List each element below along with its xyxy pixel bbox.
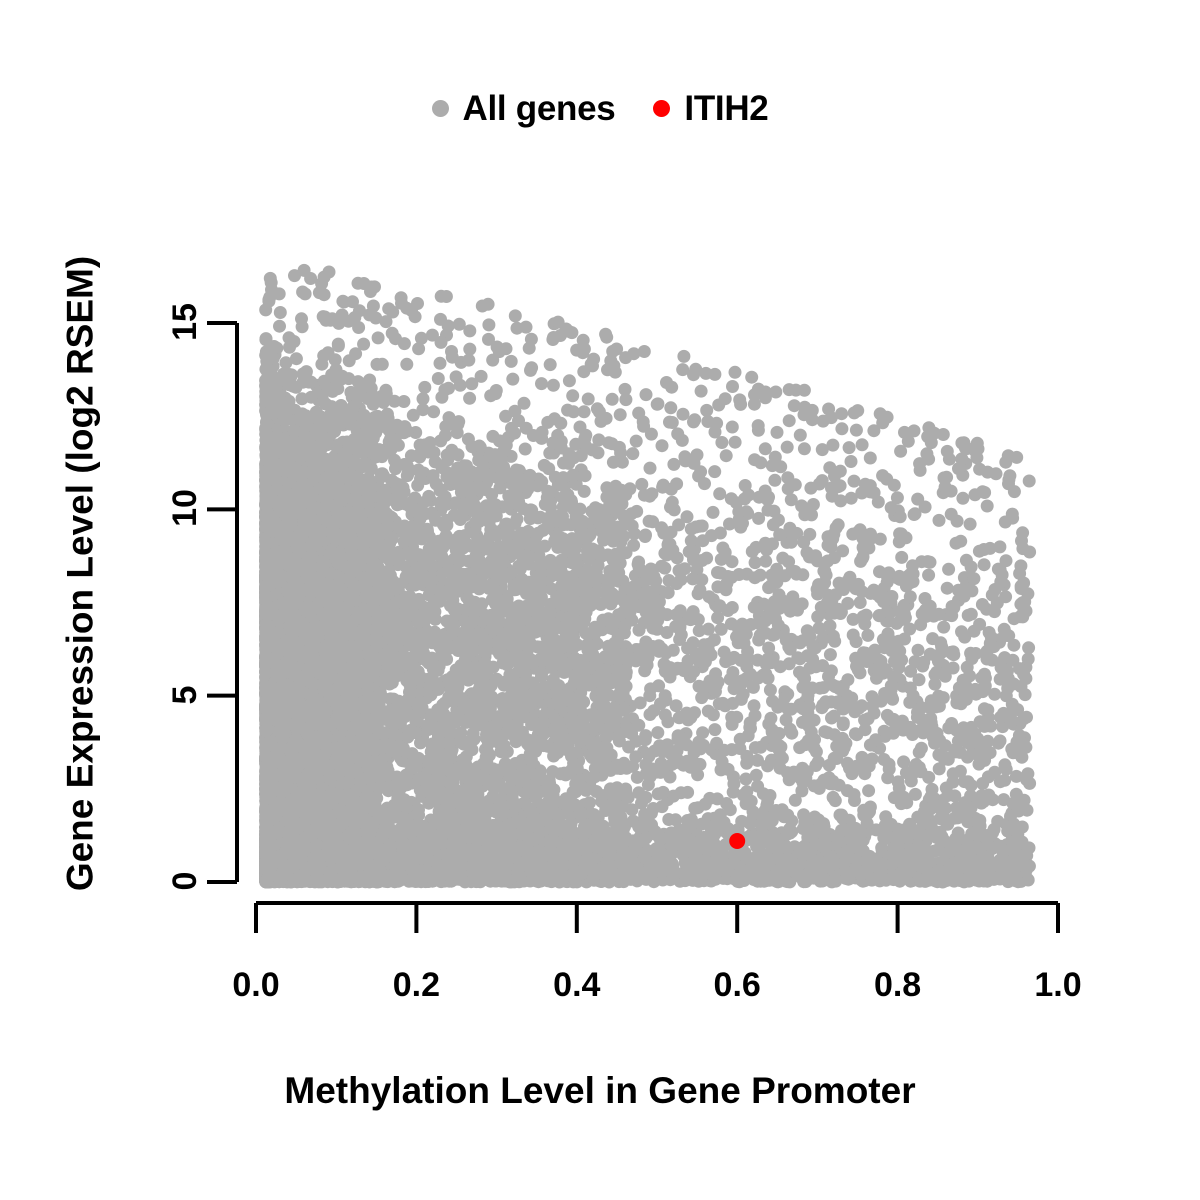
scatter-points-all-genes <box>259 264 1036 889</box>
y-tick-0: 0 <box>168 851 202 911</box>
itih2-point <box>729 833 745 849</box>
x-tick-0.0: 0.0 <box>201 968 311 1002</box>
y-tick-5: 5 <box>168 665 202 725</box>
plot-canvas <box>0 0 1200 1200</box>
scatter-plot-figure: All genes ITIH2 051015 0.00.20.40.60.81.… <box>0 0 1200 1200</box>
y-axis-title: Gene Expression Level (log2 RSEM) <box>62 144 99 1004</box>
y-tick-15: 15 <box>168 292 202 352</box>
x-tick-0.2: 0.2 <box>361 968 471 1002</box>
x-tick-1.0: 1.0 <box>1003 968 1113 1002</box>
x-tick-0.8: 0.8 <box>843 968 953 1002</box>
x-axis-title: Methylation Level in Gene Promoter <box>0 1072 1200 1109</box>
scatter-point-itih2 <box>729 833 745 849</box>
x-tick-0.4: 0.4 <box>522 968 632 1002</box>
y-tick-10: 10 <box>168 478 202 538</box>
x-tick-0.6: 0.6 <box>682 968 792 1002</box>
